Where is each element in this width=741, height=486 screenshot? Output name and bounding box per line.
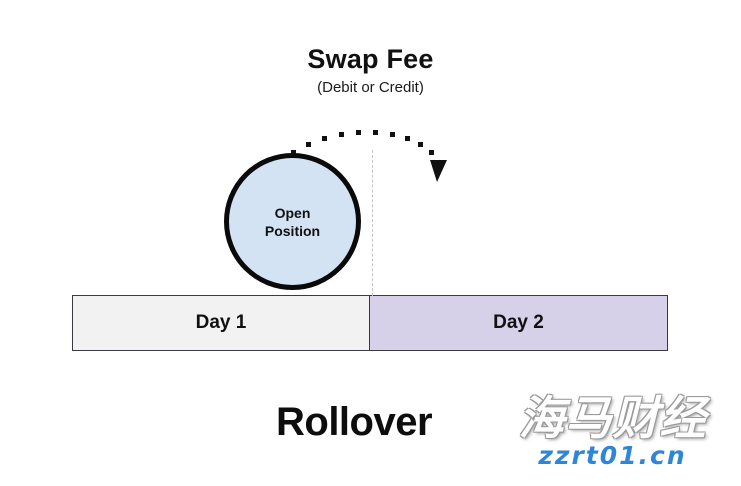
diagram-canvas: Swap Fee (Debit or Credit) Open Position… bbox=[0, 0, 741, 486]
open-position-node: Open Position bbox=[224, 153, 361, 290]
page-subtitle: (Debit or Credit) bbox=[0, 78, 741, 98]
page-title: Swap Fee bbox=[0, 44, 741, 74]
day-divider-line bbox=[372, 150, 373, 296]
watermark-url: zzrt01.cn bbox=[495, 442, 730, 470]
title-block: Swap Fee (Debit or Credit) bbox=[0, 44, 741, 98]
watermark-brand: 海马财经 bbox=[495, 392, 730, 444]
timeline-cell-day-1: Day 1 bbox=[72, 295, 370, 351]
timeline-bar: Day 1 Day 2 bbox=[72, 295, 668, 351]
timeline-cell-day-2: Day 2 bbox=[370, 295, 668, 351]
rollover-caption: Rollover bbox=[276, 399, 432, 445]
watermark: 海马财经 zzrt01.cn bbox=[495, 392, 730, 470]
open-position-label: Open Position bbox=[265, 204, 320, 240]
